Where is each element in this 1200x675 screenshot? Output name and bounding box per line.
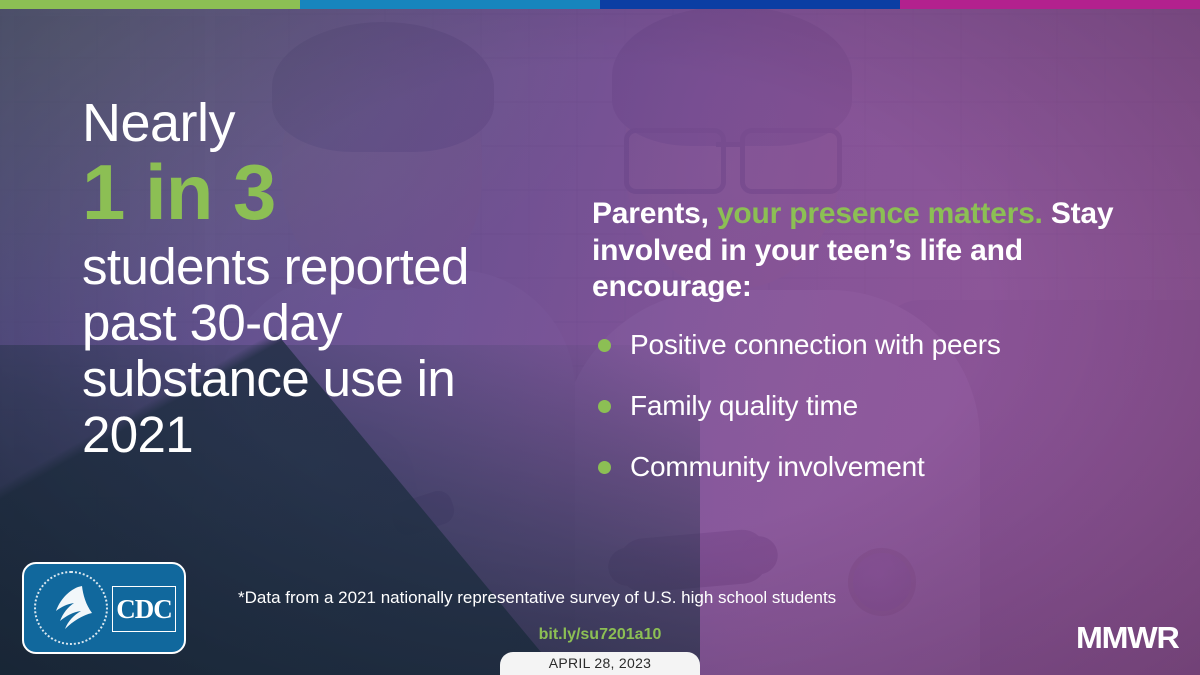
hhs-seal-icon [34,571,108,645]
bullet-dot-icon [598,400,611,413]
rule-segment-blue [600,0,900,9]
cdc-wordmark-text: CDC [113,587,175,631]
cdc-wordmark: CDC [112,586,176,632]
list-item-label: Family quality time [630,390,858,421]
bullet-dot-icon [598,461,611,474]
data-source-footnote: *Data from a 2021 nationally representat… [238,588,836,608]
headline-block: Nearly 1 in 3 students reported past 30-… [82,96,502,463]
infographic-canvas: Nearly 1 in 3 students reported past 30-… [0,0,1200,675]
list-item: Community involvement [592,450,1152,483]
rule-segment-green [0,0,300,9]
headline-description: students reported past 30-day substance … [82,239,502,463]
rule-segment-magenta [900,0,1200,9]
recommendation-list: Positive connection with peers Family qu… [592,328,1152,483]
publication-date-badge: APRIL 28, 2023 [500,652,700,675]
bullet-dot-icon [598,339,611,352]
lede-accent-phrase: your presence matters. [717,197,1043,230]
list-item-label: Community involvement [630,451,925,482]
mmwr-logo: MMWR [1076,620,1178,656]
top-color-rule [0,0,1200,9]
headline-nearly: Nearly [82,96,502,151]
list-item: Family quality time [592,389,1152,422]
lede-part-1: Parents, [592,197,717,230]
message-lede: Parents, your presence matters. Stay inv… [592,196,1152,306]
list-item-label: Positive connection with peers [630,329,1001,360]
cdc-logo: CDC [22,562,186,654]
rule-segment-cyan [300,0,600,9]
headline-statistic: 1 in 3 [82,153,502,233]
message-block: Parents, your presence matters. Stay inv… [592,196,1152,511]
list-item: Positive connection with peers [592,328,1152,361]
